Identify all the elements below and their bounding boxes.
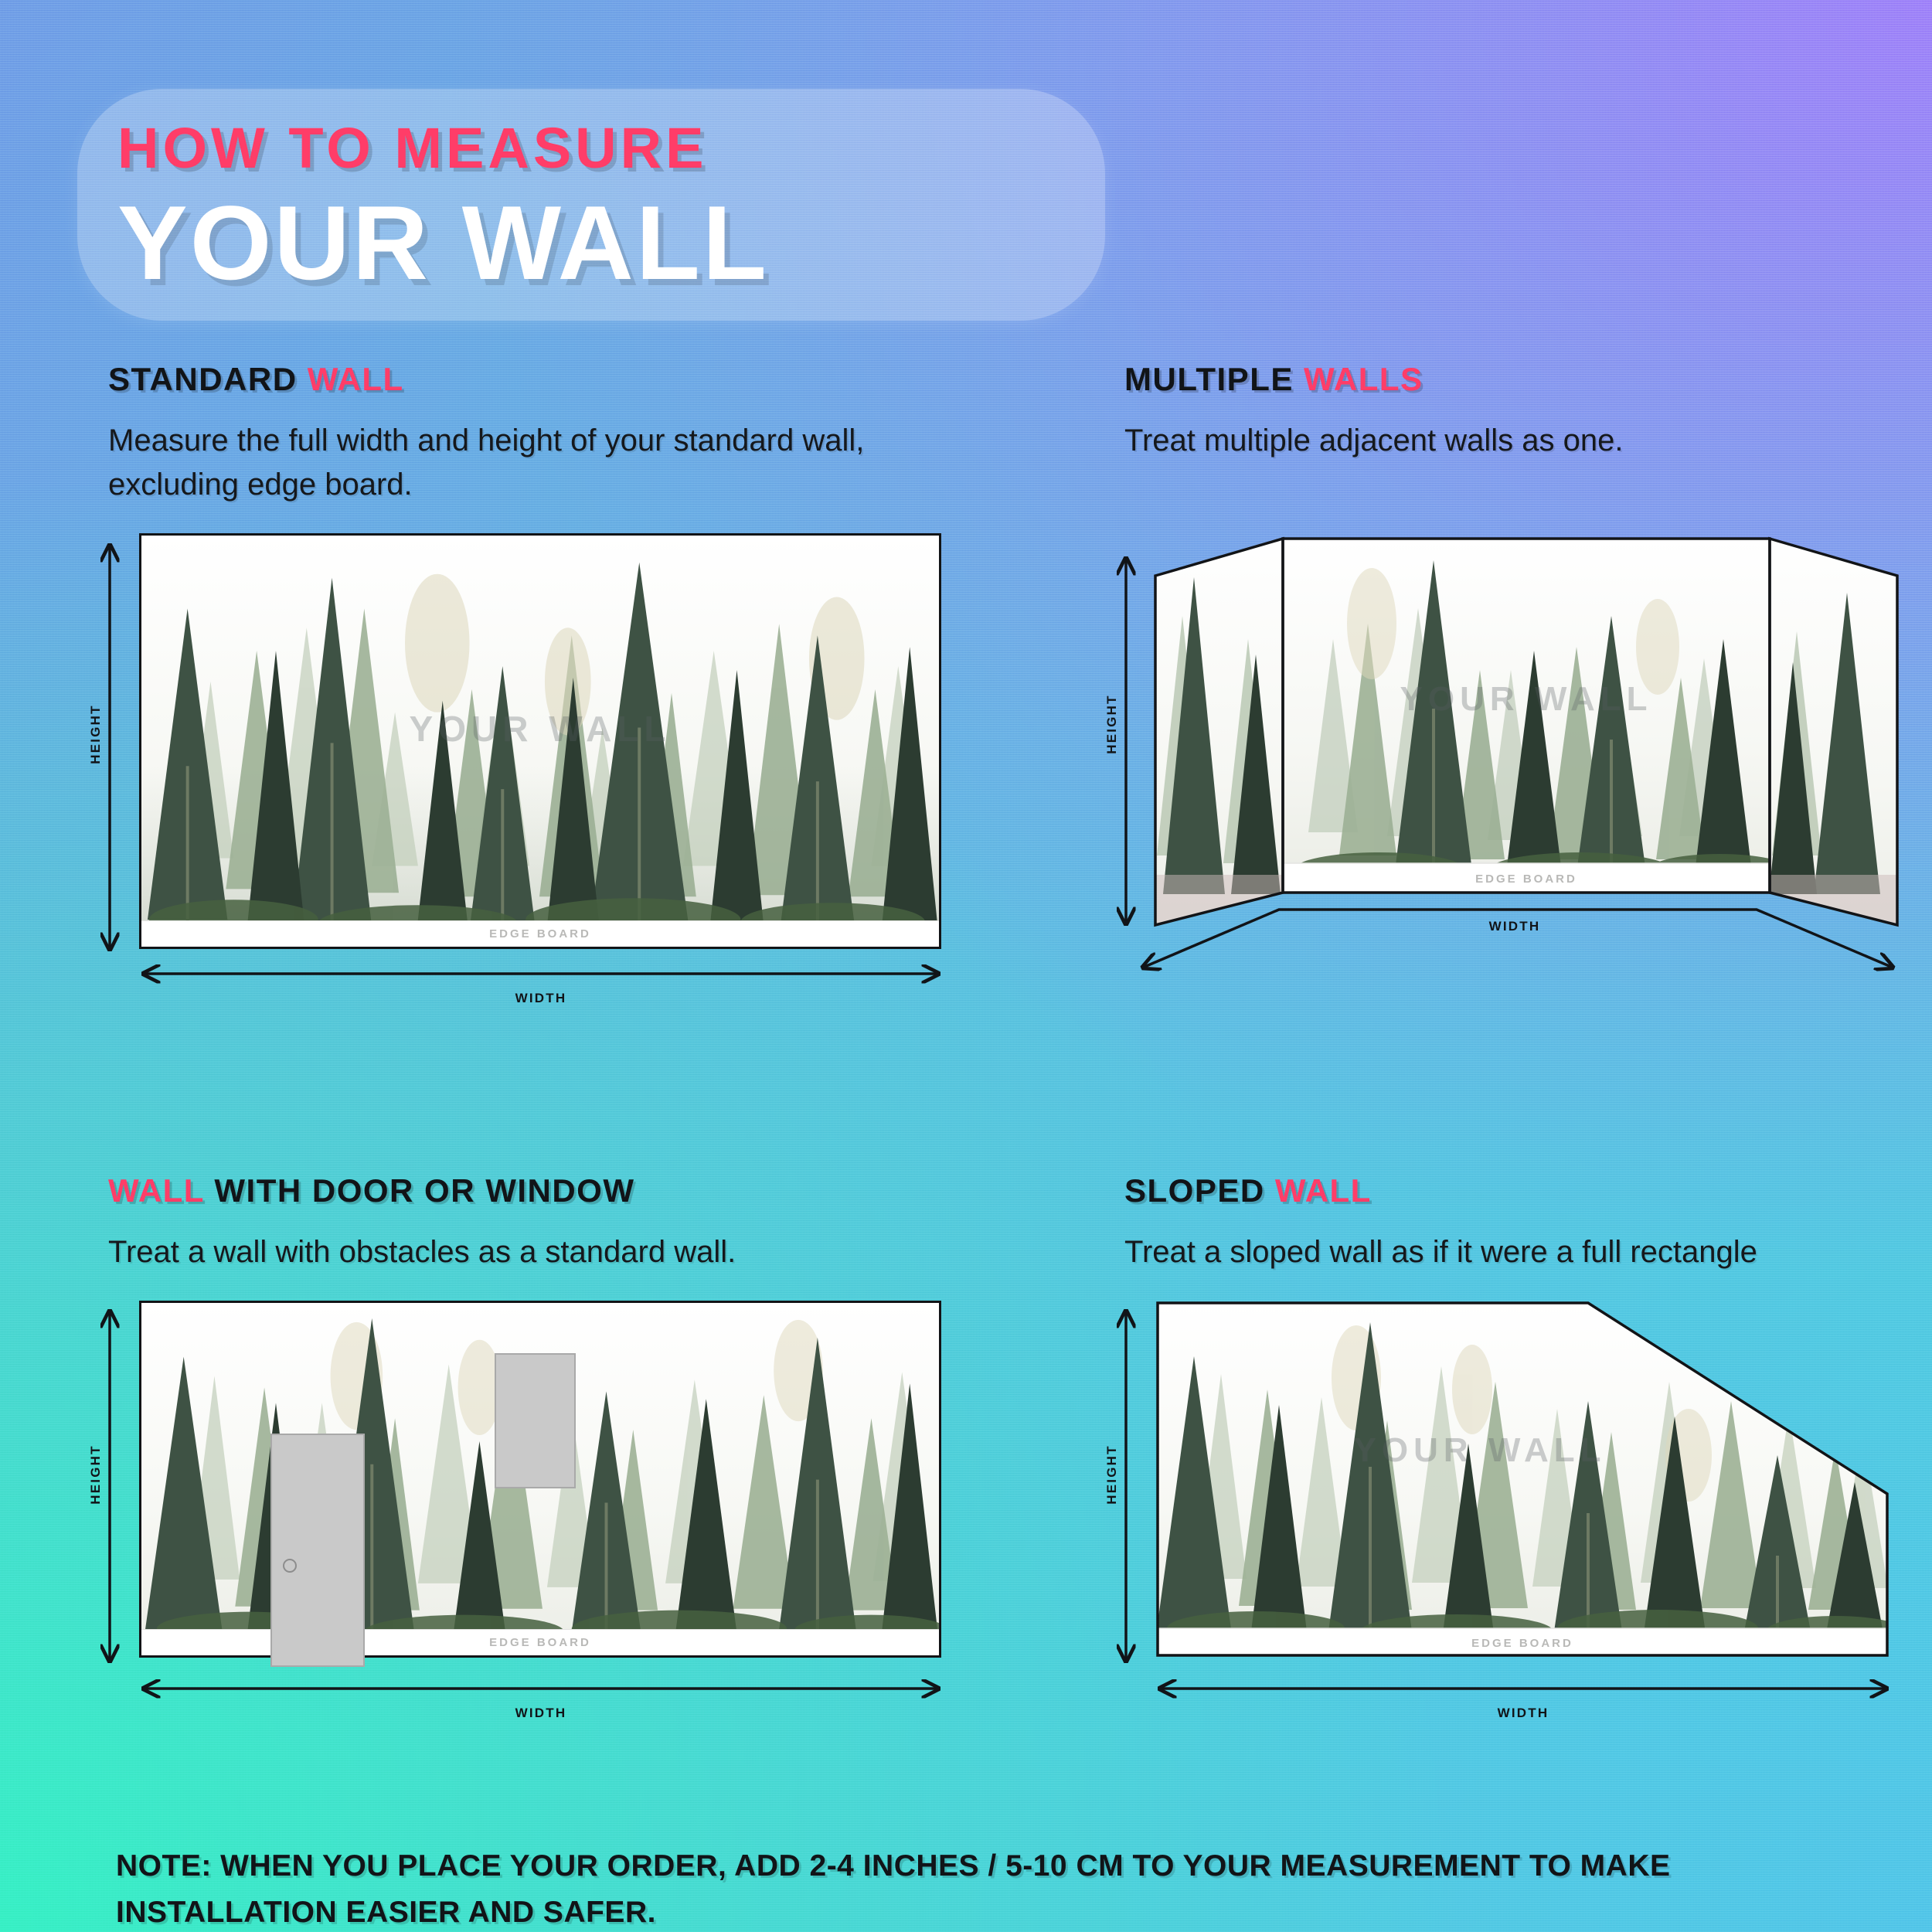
section-multiple-walls: MULTIPLE WALLS Treat multiple adjacent w… [1124,363,1905,1002]
width-label-sloped: WIDTH [1155,1706,1891,1721]
diagram-multiple-walls: HEIGHT [1124,523,1905,1002]
section-title-pink-part: WALL [1275,1172,1372,1209]
width-arrow-door [139,1681,943,1699]
footer-note: NOTE: WHEN YOU PLACE YOUR ORDER, ADD 2-4… [116,1843,1855,1932]
section-title-pink-part: WALL [108,1172,204,1209]
edge-board-label-sloped: EDGE BOARD [1471,1637,1573,1650]
section-description-standard: Measure the full width and height of you… [108,419,881,507]
edge-board-label-multiple: EDGE BOARD [1475,872,1577,886]
width-label-door: WIDTH [139,1706,943,1721]
section-description-sloped: Treat a sloped wall as if it were a full… [1124,1230,1897,1274]
section-title-standard: STANDARD WALL [108,363,997,396]
door-obstacle [270,1434,365,1667]
section-title-dark-part: WITH DOOR OR WINDOW [214,1172,634,1209]
section-title-dark-part: SLOPED [1124,1172,1265,1209]
header-badge: HOW TO MEASURE YOUR WALL [77,89,1105,321]
section-title-pink-part: WALL [308,361,404,397]
width-arrow-standard [139,966,943,985]
diagram-standard-wall: HEIGHT [108,533,981,1012]
forest-artwork [141,536,939,949]
diagram-sloped-wall: HEIGHT [1124,1301,1920,1733]
section-title-door: WALL WITH DOOR OR WINDOW [108,1175,997,1207]
height-label-sloped: HEIGHT [1104,1428,1120,1521]
wall-mural-standard: YOUR WALL EDGE BOARD [139,533,941,949]
three-panel-wall-art: EDGE BOARD YOUR WALL [1148,523,1905,956]
header-headline: YOUR WALL [117,188,1105,298]
section-title-dark-part: MULTIPLE [1124,361,1294,397]
diagram-wall-with-obstacles: HEIGHT [108,1301,981,1733]
section-title-multiple: MULTIPLE WALLS [1124,363,1905,396]
section-description-multiple: Treat multiple adjacent walls as one. [1124,419,1897,463]
edge-board-label: EDGE BOARD [489,927,591,940]
height-label-door: HEIGHT [88,1428,104,1521]
section-sloped-wall: SLOPED WALL Treat a sloped wall as if it… [1124,1175,1920,1733]
width-label-multiple: WIDTH [1124,919,1905,934]
window-obstacle [495,1353,576,1488]
infographic-page: HOW TO MEASURE YOUR WALL STANDARD WALL M… [0,0,1932,1932]
edge-board-door: EDGE BOARD [141,1629,939,1655]
width-label-standard: WIDTH [139,991,943,1006]
section-description-door: Treat a wall with obstacles as a standar… [108,1230,881,1274]
section-wall-with-door-or-window: WALL WITH DOOR OR WINDOW Treat a wall wi… [108,1175,997,1733]
section-title-dark-part: STANDARD [108,361,298,397]
door-knob-icon [283,1559,297,1573]
edge-board-standard: EDGE BOARD [141,920,939,947]
height-label-standard: HEIGHT [88,688,104,781]
section-title-pink-part: WALLS [1304,361,1423,397]
sloped-wall-art: YOUR WALL EDGE BOARD [1155,1301,1889,1658]
width-arrow-sloped [1155,1681,1891,1699]
section-title-sloped: SLOPED WALL [1124,1175,1920,1207]
header-kicker: HOW TO MEASURE [117,120,1105,177]
mural-watermark-sloped: YOUR WALL [1354,1431,1607,1469]
height-label-multiple: HEIGHT [1104,678,1120,770]
width-arrow-multiple [1124,893,1905,985]
section-standard-wall: STANDARD WALL Measure the full width and… [108,363,997,1012]
edge-board-label: EDGE BOARD [489,1636,591,1649]
mural-watermark-multiple: YOUR WALL [1400,680,1653,718]
